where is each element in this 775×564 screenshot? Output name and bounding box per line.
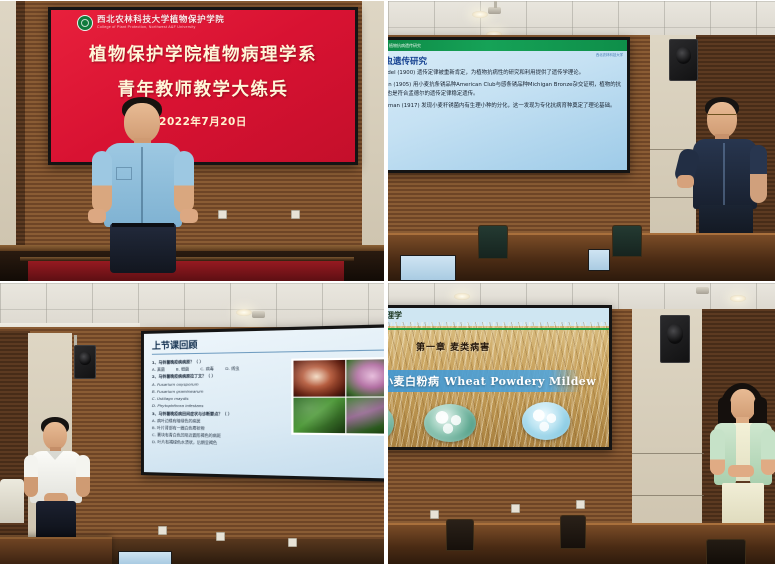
- wall-outlet-3: [576, 500, 585, 509]
- petri-dish-blue: [522, 402, 570, 440]
- presenter-panel1: [88, 97, 198, 281]
- chair-back-1: [478, 225, 508, 259]
- disease-photo-3: [293, 397, 344, 433]
- wall-cream-right: [362, 1, 384, 245]
- projector: [488, 7, 501, 14]
- projector-arm: [494, 1, 497, 8]
- wall-outlet-1: [158, 526, 167, 535]
- wall-outlet-1: [218, 210, 227, 219]
- quiz-questions: 1、马铃薯晚疫病病原？（ ） A. 真菌 B. 细菌 C. 病毒 D. 线虫 2…: [152, 357, 287, 448]
- dish-colonies: [528, 407, 565, 436]
- wall-speaker: [669, 39, 698, 81]
- university-logo: 西北农林科技大学植物保护学院 College of Plant Protecti…: [51, 10, 355, 31]
- option: C. 病毒: [200, 365, 213, 373]
- ceiling-downlight-1: [454, 293, 470, 300]
- presenter-panel2: [683, 97, 769, 253]
- ceiling-downlight-1: [472, 11, 488, 18]
- podium-monitor: [118, 551, 172, 564]
- disease-photo-4: [346, 397, 384, 434]
- ceiling-downlight-2: [730, 295, 746, 302]
- projector: [696, 287, 709, 294]
- arm-left: [92, 151, 112, 213]
- wall-cream-left: [0, 1, 16, 245]
- ceiling: [388, 1, 775, 37]
- presenter-panel3: [24, 417, 90, 541]
- disease-photo-2: [346, 359, 384, 396]
- hand-left: [88, 209, 106, 223]
- shirt-placket: [723, 143, 725, 207]
- arm-right: [174, 151, 194, 213]
- wall-outlet-2: [511, 504, 520, 513]
- wall-outlet-1: [430, 510, 439, 519]
- chair-back-1: [446, 519, 474, 551]
- wall-speaker: [660, 315, 690, 363]
- slide-accent-line: [388, 328, 609, 330]
- wall-cream-seam-2: [632, 495, 704, 496]
- wall-outlet-3: [288, 538, 297, 547]
- option: C. Ustilago maydis: [152, 395, 287, 403]
- shirt-pocket: [116, 167, 132, 180]
- panel-bottom-left: 上节课回顾 1、马铃薯晚疫病病原？（ ） A. 真菌 B. 细菌 C. 病毒 D…: [0, 283, 384, 564]
- arm-left: [710, 429, 725, 475]
- chair-back-2: [560, 515, 586, 549]
- slide-course-label: 病理学: [388, 310, 402, 321]
- slide-paragraph-1: Mendel (1900) 遗传定律被重新肯定，为植物抗病性的研究和利用提供了遗…: [388, 69, 623, 77]
- logo-name-cn: 西北农林科技大学植物保护学院: [97, 16, 224, 25]
- photo-collage: 西北农林科技大学植物保护学院 College of Plant Protecti…: [0, 0, 775, 564]
- head: [707, 102, 737, 138]
- panel-top-left: 西北农林科技大学植物保护学院 College of Plant Protecti…: [0, 1, 384, 281]
- slide-watermark: 西北农林科技大学: [596, 53, 623, 57]
- chair-back-2: [612, 225, 642, 257]
- glasses-icon: [708, 114, 736, 119]
- panel-bottom-right: 病理学 第一章 麦类病害 小麦白粉病Wheat Powdery Mildew: [388, 283, 775, 564]
- university-seal-icon: [77, 15, 93, 31]
- option: D. 叶片有褐绿色水渍状，后期呈褐色: [152, 439, 287, 448]
- slide-title-en: Wheat Powdery Mildew: [445, 375, 597, 388]
- presenter-panel4: [706, 383, 775, 529]
- torso-shirt: [693, 139, 757, 209]
- arm-right: [761, 429, 775, 475]
- desk-monitor-1: [400, 255, 456, 281]
- projector: [252, 311, 265, 318]
- projection-screen: 节 植物抗病遗传研究 西北农林科技大学 病虫遗传研究 Mendel (1900)…: [388, 37, 630, 173]
- wall-outlet-2: [216, 532, 225, 541]
- wall-cream-seam-1: [632, 453, 704, 454]
- slide-ribbon: 节 植物抗病遗传研究: [388, 40, 627, 51]
- slide-title-bar: 小麦白粉病Wheat Powdery Mildew: [388, 370, 581, 392]
- slide-chapter: 第一章 麦类病害: [416, 340, 490, 353]
- white-chair: [0, 479, 24, 523]
- torso-shirt: [104, 143, 182, 227]
- trousers: [36, 501, 76, 541]
- head: [124, 103, 160, 143]
- wall-outlet-2: [291, 210, 300, 219]
- slide-paragraph-2: Biffen (1905) 用小麦抗条锈品种American Club与感条锈品…: [388, 81, 623, 98]
- desk-monitor-2: [588, 249, 610, 271]
- wall-dark-edge-left: [16, 1, 25, 245]
- slide-heading: 病虫遗传研究: [388, 51, 627, 69]
- hands-holding-clicker: [728, 465, 754, 477]
- arm-left: [750, 145, 767, 203]
- shirt-placket: [141, 147, 143, 223]
- belt: [112, 223, 174, 227]
- option: D. 线虫: [225, 365, 239, 373]
- petri-dish-green: [424, 404, 476, 442]
- arm-left: [24, 455, 38, 497]
- projection-screen: 上节课回顾 1、马铃薯晚疫病病原？（ ） A. 真菌 B. 细菌 C. 病毒 D…: [141, 324, 384, 483]
- slide-title-cn: 小麦白粉病: [388, 375, 440, 388]
- ribbon-tab-right: 植物抗病遗传研究: [388, 43, 421, 49]
- slide-body: Mendel (1900) 遗传定律被重新肯定，为植物抗病性的研究和利用提供了遗…: [388, 69, 627, 115]
- head: [43, 422, 67, 450]
- front-podium: [0, 537, 112, 564]
- hand-raised: [677, 175, 694, 188]
- slide-title: 上节课回顾: [144, 327, 384, 352]
- disease-photo-grid: [291, 357, 384, 436]
- slide-paragraph-3: Stakman (1917) 发现小麦秆锈菌内有生理小种的分化，这一发现为专化抗…: [388, 102, 623, 110]
- dish-colonies: [430, 409, 470, 438]
- arm-right: [76, 455, 90, 497]
- disease-photo-1: [293, 360, 344, 396]
- wall-speaker: [74, 345, 96, 379]
- panel-top-right: 节 植物抗病遗传研究 西北农林科技大学 病虫遗传研究 Mendel (1900)…: [388, 1, 775, 281]
- chair-back-3: [706, 539, 746, 564]
- led-wall-screen: 病理学 第一章 麦类病害 小麦白粉病Wheat Powdery Mildew: [388, 305, 612, 450]
- ceiling-grid: [388, 1, 775, 37]
- logo-name-en: College of Plant Protection, Northwest A…: [97, 26, 224, 30]
- banner-line-1: 植物保护学院植物病理学系: [89, 41, 317, 66]
- ceiling-downlight-2: [236, 309, 252, 316]
- hand-right: [180, 209, 198, 223]
- trousers: [110, 223, 176, 273]
